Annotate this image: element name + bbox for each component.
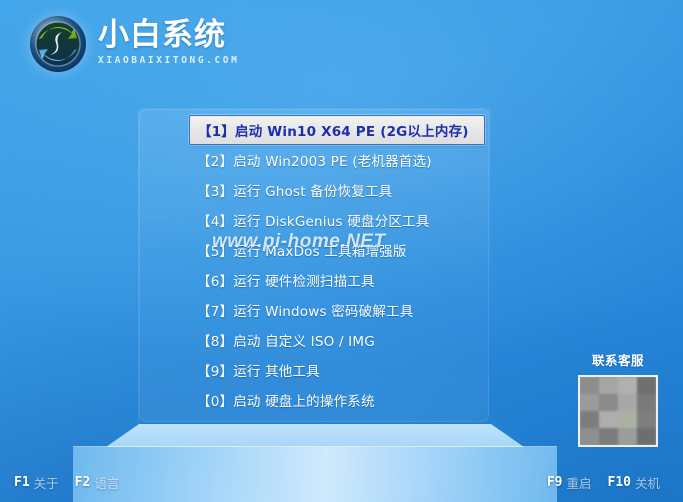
hotkey-key: F2 (75, 475, 91, 490)
boot-menu-list: 【1】启动 Win10 X64 PE (2G以上内存)【2】启动 Win2003… (139, 109, 489, 415)
qr-cell (618, 411, 637, 428)
qr-cell (580, 428, 599, 445)
boot-menu-item-7[interactable]: 【7】运行 Windows 密码破解工具 (193, 295, 481, 325)
qr-cell (618, 377, 637, 394)
contact-support-title: 联系客服 (568, 350, 668, 369)
boot-menu-item-9[interactable]: 【9】运行 其他工具 (193, 355, 481, 385)
qr-cell (580, 377, 599, 394)
qr-cell (599, 377, 618, 394)
hotkey-key: F1 (14, 475, 30, 490)
hotkey-f9[interactable]: F9重启 (547, 473, 592, 492)
recycle-swirl-icon (30, 16, 86, 72)
contact-support-box[interactable]: 联系客服 (568, 350, 668, 447)
boot-menu-item-6[interactable]: 【6】运行 硬件检测扫描工具 (193, 265, 481, 295)
qr-code-pixels (580, 377, 656, 445)
hotkey-bar: F1关于F2语言 F9重启F10关机 (0, 462, 683, 502)
brand-name: 小白系统 (98, 20, 239, 52)
qr-cell (599, 411, 618, 428)
podium-top-slab (106, 424, 524, 447)
boot-menu-item-0[interactable]: 【0】启动 硬盘上的操作系统 (193, 385, 481, 415)
hotkey-f1[interactable]: F1关于 (14, 473, 59, 492)
podium-edge-highlight (73, 446, 557, 448)
hotkey-group-right: F9重启F10关机 (547, 473, 669, 492)
hotkey-f2[interactable]: F2语言 (75, 473, 120, 492)
hotkey-label: 重启 (566, 473, 591, 492)
brand-url: XIAOBAIXITONG.COM (98, 55, 239, 66)
hotkey-key: F10 (608, 475, 631, 490)
hotkey-label: 关于 (34, 473, 59, 492)
qr-cell (637, 377, 656, 394)
boot-menu-item-4[interactable]: 【4】运行 DiskGenius 硬盘分区工具 (193, 205, 481, 235)
podium-front-face (73, 447, 557, 502)
qr-cell (637, 394, 656, 411)
qr-cell (580, 394, 599, 411)
qr-cell (618, 394, 637, 411)
qr-cell (618, 428, 637, 445)
qr-cell (580, 411, 599, 428)
hotkey-key: F9 (547, 475, 563, 490)
boot-menu-item-8[interactable]: 【8】启动 自定义 ISO / IMG (193, 325, 481, 355)
hotkey-label: 关机 (635, 473, 660, 492)
qr-cell (637, 411, 656, 428)
qr-cell (599, 428, 618, 445)
qr-code-image[interactable] (578, 375, 658, 447)
brand-logo: 小白系统 XIAOBAIXITONG.COM (30, 16, 239, 72)
hotkey-label: 语言 (94, 473, 119, 492)
brand-text-block: 小白系统 XIAOBAIXITONG.COM (98, 20, 239, 69)
boot-menu-item-3[interactable]: 【3】运行 Ghost 备份恢复工具 (193, 175, 481, 205)
boot-menu-item-5[interactable]: 【5】运行 MaxDos 工具箱增强版 (193, 235, 481, 265)
boot-menu-panel: 【1】启动 Win10 X64 PE (2G以上内存)【2】启动 Win2003… (139, 109, 489, 422)
qr-cell (637, 428, 656, 445)
qr-cell (599, 394, 618, 411)
hotkey-group-left: F1关于F2语言 (14, 473, 128, 492)
hotkey-f10[interactable]: F10关机 (608, 473, 661, 492)
boot-menu-item-1[interactable]: 【1】启动 Win10 X64 PE (2G以上内存) (189, 115, 485, 145)
boot-menu-screen: 小白系统 XIAOBAIXITONG.COM 【1】启动 Win10 X64 P… (0, 0, 683, 502)
boot-menu-item-2[interactable]: 【2】启动 Win2003 PE (老机器首选) (193, 145, 481, 175)
